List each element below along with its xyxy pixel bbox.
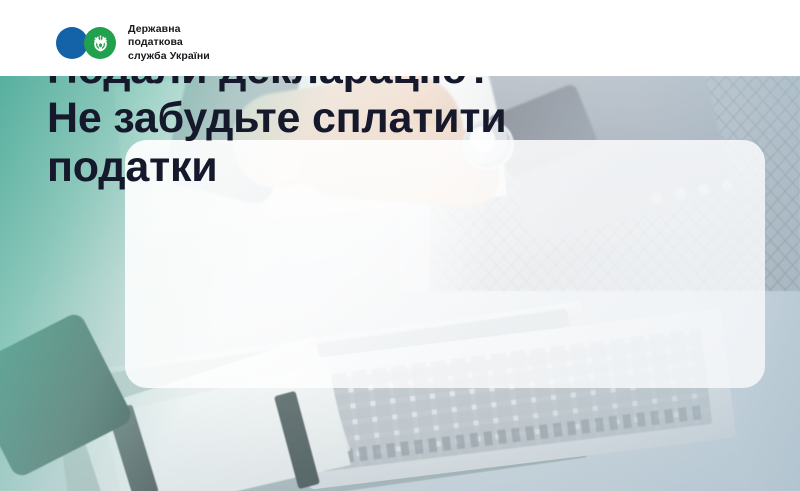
ukraine-trident-icon bbox=[84, 27, 116, 59]
logo-text-line-3: служба України bbox=[128, 50, 210, 62]
logo-text-line-1: Державна bbox=[128, 23, 181, 35]
dps-ukraine-logo[interactable]: Державна податкова служба України bbox=[56, 23, 210, 63]
headline-line-3: податки bbox=[47, 143, 637, 192]
tax-service-banner: Державна податкова служба України bbox=[0, 0, 800, 491]
logo-text-line-2: податкова bbox=[128, 36, 183, 48]
logo-text: Державна податкова служба України bbox=[128, 23, 210, 63]
logo-marks bbox=[56, 27, 118, 59]
site-header: Державна податкова служба України bbox=[0, 0, 800, 76]
headline-line-2: Не забудьте сплатити bbox=[47, 94, 637, 143]
